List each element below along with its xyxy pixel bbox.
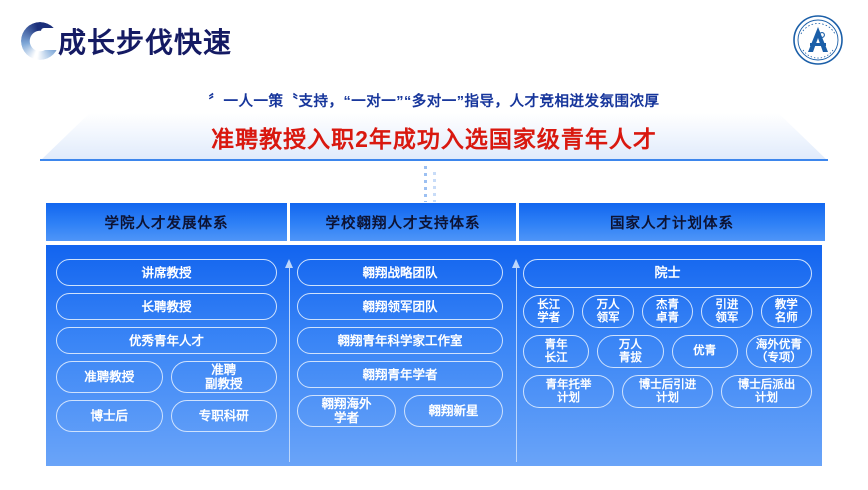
pill-item[interactable]: 杰青 卓青	[642, 295, 693, 328]
pill-row: 翱翔领军团队	[297, 293, 503, 320]
pill-item[interactable]: 翱翔新星	[404, 395, 503, 427]
pill-item[interactable]: 青年 长江	[523, 335, 589, 368]
pill-item[interactable]: 博士后引进 计划	[622, 375, 713, 408]
pill-row: 青年托举 计划 博士后引进 计划 博士后派出 计划	[523, 375, 812, 408]
pill-item[interactable]: 博士后	[56, 400, 163, 432]
dashed-connector-left	[424, 166, 427, 202]
pill-row: 讲席教授	[56, 259, 277, 286]
pill-item[interactable]: 博士后派出 计划	[721, 375, 812, 408]
banner-headline: 准聘教授入职2年成功入选国家级青年人才	[40, 113, 828, 161]
column-national-talent-programs: 院士 长江 学者 万人 领军 杰青 卓青 引进 领军 教学 名师 青年 长江 万…	[513, 245, 822, 466]
pill-item[interactable]: 翱翔战略团队	[297, 259, 503, 286]
pill-row: 院士	[523, 259, 812, 288]
pill-item[interactable]: 优秀青年人才	[56, 327, 277, 354]
pill-item[interactable]: 翱翔海外 学者	[297, 395, 396, 427]
slide-title-row: 成长步伐快速	[18, 18, 232, 64]
pill-item[interactable]: 优青	[672, 335, 738, 368]
table-header-row: 学院人才发展体系 学校翱翔人才支持体系 国家人才计划体系	[46, 203, 822, 241]
pill-item[interactable]: 院士	[523, 259, 812, 288]
pill-item[interactable]: 专职科研	[171, 400, 278, 432]
talent-system-table: 学院人才发展体系 学校翱翔人才支持体系 国家人才计划体系 讲席教授 长聘教授 优…	[46, 203, 822, 466]
table-body: 讲席教授 长聘教授 优秀青年人才 准聘教授 准聘 副教授 博士后 专职科研	[46, 245, 822, 466]
column-header-school: 学校翱翔人才支持体系	[290, 203, 516, 241]
pill-row: 翱翔青年科学家工作室	[297, 327, 503, 354]
pill-item[interactable]: 准聘教授	[56, 361, 163, 393]
pill-item[interactable]: 准聘 副教授	[171, 361, 278, 393]
pill-row: 长江 学者 万人 领军 杰青 卓青 引进 领军 教学 名师	[523, 295, 812, 328]
pill-item[interactable]: 万人 青拔	[597, 335, 663, 368]
pill-row: 翱翔战略团队	[297, 259, 503, 286]
pill-item[interactable]: 长聘教授	[56, 293, 277, 320]
ring-accent-icon	[18, 19, 62, 63]
pill-row: 优秀青年人才	[56, 327, 277, 354]
slide-root: 成长步伐快速 〞一人一策〝支持，“一对一”“多对一”指导，人才竞相迸发氛围浓厚 …	[0, 0, 868, 490]
pill-item[interactable]: 教学 名师	[761, 295, 812, 328]
headline-banner: 准聘教授入职2年成功入选国家级青年人才	[40, 113, 828, 161]
pill-item[interactable]: 翱翔青年科学家工作室	[297, 327, 503, 354]
column-school-aoxiang-support: 翱翔战略团队 翱翔领军团队 翱翔青年科学家工作室 翱翔青年学者 翱翔海外 学者 …	[287, 245, 513, 466]
column-header-college: 学院人才发展体系	[46, 203, 287, 241]
pill-item[interactable]: 长江 学者	[523, 295, 574, 328]
pill-item[interactable]: 青年托举 计划	[523, 375, 614, 408]
pill-item[interactable]: 海外优青 （专项）	[746, 335, 812, 368]
pill-item[interactable]: 万人 领军	[582, 295, 633, 328]
pill-item[interactable]: 翱翔领军团队	[297, 293, 503, 320]
pill-row: 博士后 专职科研	[56, 400, 277, 432]
university-seal-logo	[792, 14, 844, 66]
pill-row: 准聘教授 准聘 副教授	[56, 361, 277, 393]
page-title: 成长步伐快速	[58, 21, 232, 61]
pill-row: 翱翔海外 学者 翱翔新星	[297, 395, 503, 427]
column-college-talent-development: 讲席教授 长聘教授 优秀青年人才 准聘教授 准聘 副教授 博士后 专职科研	[46, 245, 287, 466]
pill-item[interactable]: 讲席教授	[56, 259, 277, 286]
pill-row: 长聘教授	[56, 293, 277, 320]
column-header-national: 国家人才计划体系	[519, 203, 825, 241]
pill-item[interactable]: 翱翔青年学者	[297, 361, 503, 388]
pill-item[interactable]: 引进 领军	[701, 295, 752, 328]
subtitle-text: 〞一人一策〝支持，“一对一”“多对一”指导，人才竞相迸发氛围浓厚	[0, 90, 868, 111]
pill-row: 青年 长江 万人 青拔 优青 海外优青 （专项）	[523, 335, 812, 368]
dashed-connector-right	[433, 172, 436, 202]
pill-row: 翱翔青年学者	[297, 361, 503, 388]
